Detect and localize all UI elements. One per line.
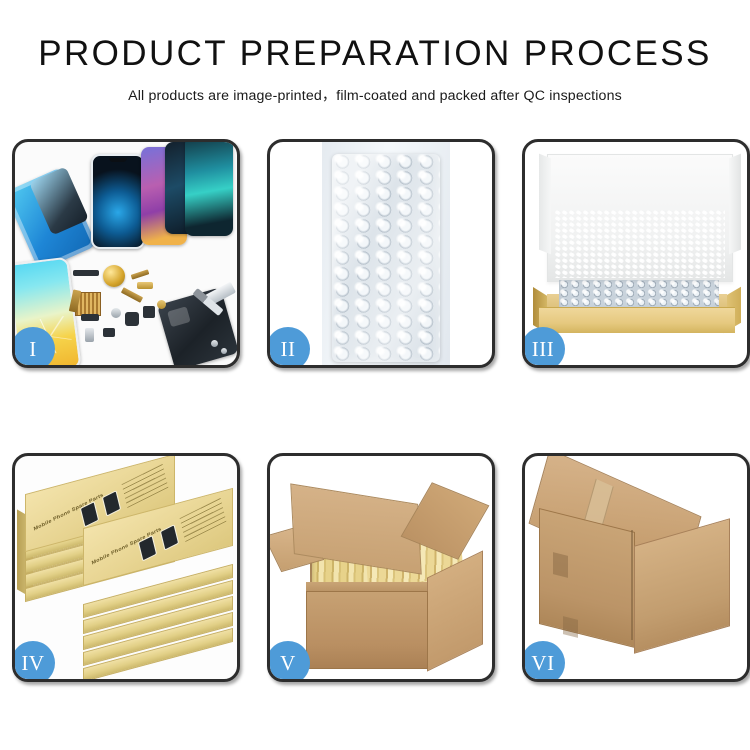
printed-box-stack-illustration: Mobile Phone Spare Parts Mobile Phone Sp… — [15, 456, 237, 679]
box-phone-thumbnail — [102, 490, 121, 516]
speaker-module-part — [103, 265, 125, 287]
small-part — [81, 314, 99, 321]
box-lid-left-flap — [539, 154, 551, 255]
carton-corner-seam — [631, 530, 633, 640]
box-lid-right-flap — [729, 154, 741, 255]
inner-box-illustration — [525, 142, 747, 365]
phone-parts-illustration — [15, 142, 237, 365]
sealed-carton-illustration — [525, 456, 747, 679]
small-part — [143, 306, 155, 318]
step-panel-5-carton-filling[interactable]: V — [267, 453, 495, 682]
foam-lining — [555, 210, 725, 278]
small-part — [121, 287, 143, 303]
step-badge-4: IV — [12, 641, 55, 682]
phone-teal-display — [185, 142, 233, 236]
small-part — [125, 312, 139, 326]
small-part — [137, 282, 153, 289]
small-part — [131, 269, 150, 279]
step-badge-3: III — [522, 327, 565, 368]
small-part — [211, 340, 218, 347]
box-tray-front-wall — [539, 307, 735, 333]
step-panel-1-phone-parts[interactable]: I — [12, 139, 240, 368]
small-part — [103, 328, 115, 337]
process-steps-grid: I II III — [12, 139, 738, 682]
carton-label-tab — [553, 552, 568, 578]
small-part — [111, 308, 121, 318]
small-part — [157, 300, 166, 309]
bubble-wrapped-product — [332, 154, 440, 362]
step-badge-2: II — [267, 327, 310, 368]
open-carton-illustration — [270, 456, 492, 679]
bubble-wrap-illustration — [270, 142, 492, 365]
carton-front-wall — [306, 591, 428, 669]
box-spec-lines — [180, 498, 227, 542]
step-panel-3-inner-box[interactable]: III — [522, 139, 750, 368]
step-panel-4-printed-boxes[interactable]: Mobile Phone Spare Parts Mobile Phone Sp… — [12, 453, 240, 682]
step-badge-1: I — [12, 327, 55, 368]
step-badge-5: V — [267, 641, 310, 682]
bubble-wrapped-contents — [559, 280, 719, 310]
page-header: PRODUCT PREPARATION PROCESS All products… — [0, 0, 750, 105]
box-spec-lines — [122, 464, 169, 508]
small-part — [85, 328, 94, 342]
page-subtitle: All products are image-printed，film-coat… — [0, 85, 750, 105]
step-badge-6: VI — [522, 641, 565, 682]
step-panel-2-bubble-wrap[interactable]: II — [267, 139, 495, 368]
carton-left-face — [539, 508, 635, 648]
page-title: PRODUCT PREPARATION PROCESS — [0, 34, 750, 74]
small-part — [221, 348, 227, 354]
small-part — [73, 270, 99, 276]
carton-label-tab — [563, 616, 578, 638]
step-panel-6-sealed-carton[interactable]: VI — [522, 453, 750, 682]
phone-front-glass — [91, 154, 145, 249]
box-phone-thumbnail — [160, 524, 179, 550]
